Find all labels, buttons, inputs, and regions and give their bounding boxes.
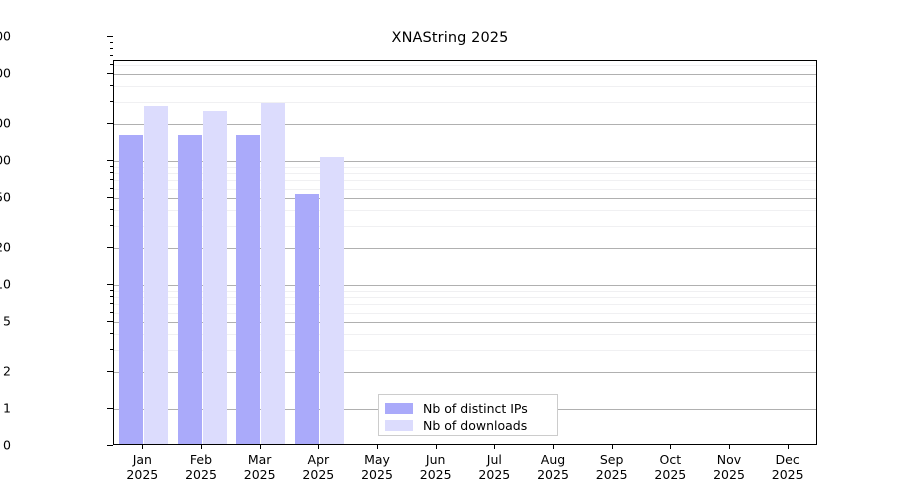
x-tick-year: 2025: [420, 467, 452, 482]
x-tick-mark: [436, 445, 437, 449]
x-tick-mark: [142, 445, 143, 449]
x-tick-year: 2025: [537, 467, 569, 482]
y-tick-label: 100: [0, 153, 11, 168]
y-tick-label: 2: [3, 363, 11, 378]
x-tick-mark: [670, 445, 671, 449]
legend-swatch-ips: [385, 403, 413, 414]
y-tick-mark-minor: [110, 55, 113, 56]
y-tick-label: 10: [0, 277, 11, 292]
bar-mar-downloads: [261, 103, 285, 444]
bar-mar-ips: [236, 135, 260, 444]
y-tick-mark-minor: [110, 166, 113, 167]
y-tick-mark: [107, 36, 113, 37]
x-tick-label-feb: Feb2025: [185, 452, 217, 482]
bar-jan-ips: [119, 135, 143, 444]
legend-label-ips: Nb of distinct IPs: [423, 401, 528, 416]
x-tick-month: Sep: [600, 452, 624, 467]
x-tick-year: 2025: [244, 467, 276, 482]
x-tick-label-jan: Jan2025: [126, 452, 158, 482]
x-tick-label-sep: Sep2025: [596, 452, 628, 482]
x-tick-mark: [494, 445, 495, 449]
gridline-minor: [114, 65, 816, 66]
y-tick-mark-minor: [110, 349, 113, 350]
y-tick-mark-minor: [110, 296, 113, 297]
x-tick-month: May: [364, 452, 390, 467]
x-tick-mark: [260, 445, 261, 449]
x-tick-mark: [788, 445, 789, 449]
x-tick-year: 2025: [185, 467, 217, 482]
x-tick-year: 2025: [478, 467, 510, 482]
legend-item-downloads: Nb of downloads: [385, 417, 551, 433]
x-tick-year: 2025: [654, 467, 686, 482]
x-tick-label-aug: Aug2025: [537, 452, 569, 482]
y-tick-mark: [107, 321, 113, 322]
y-tick-mark-minor: [110, 85, 113, 86]
plot-area: [113, 60, 817, 445]
x-tick-mark: [201, 445, 202, 449]
x-tick-month: Apr: [308, 452, 330, 467]
y-tick-mark-minor: [110, 42, 113, 43]
y-tick-mark: [107, 197, 113, 198]
y-tick-mark: [107, 445, 113, 446]
bar-feb-downloads: [203, 111, 227, 444]
bar-apr-downloads: [320, 157, 344, 444]
x-tick-month: Aug: [541, 452, 565, 467]
x-tick-label-nov: Nov2025: [713, 452, 745, 482]
y-tick-label: 1: [3, 401, 11, 416]
x-tick-mark: [553, 445, 554, 449]
x-tick-month: Nov: [717, 452, 741, 467]
y-tick-mark-minor: [110, 172, 113, 173]
y-tick-mark-minor: [110, 333, 113, 334]
y-tick-mark: [107, 160, 113, 161]
x-tick-month: Jun: [426, 452, 446, 467]
y-tick-label: 1000: [0, 29, 11, 44]
x-tick-mark: [318, 445, 319, 449]
gridline-minor: [114, 102, 816, 103]
x-tick-month: Feb: [190, 452, 212, 467]
x-tick-mark: [377, 445, 378, 449]
y-tick-mark-minor: [110, 179, 113, 180]
x-tick-month: Jan: [133, 452, 152, 467]
bar-apr-ips: [295, 194, 319, 444]
y-tick-label: 200: [0, 115, 11, 130]
x-tick-label-jul: Jul2025: [478, 452, 510, 482]
y-tick-mark-minor: [110, 64, 113, 65]
y-tick-label: 5: [3, 314, 11, 329]
y-tick-mark-minor: [110, 188, 113, 189]
y-tick-mark: [107, 123, 113, 124]
x-tick-year: 2025: [126, 467, 158, 482]
x-tick-year: 2025: [713, 467, 745, 482]
x-tick-month: Jul: [487, 452, 502, 467]
x-tick-label-may: May2025: [361, 452, 393, 482]
legend-swatch-downloads: [385, 420, 413, 431]
chart-title: XNAString 2025: [0, 30, 900, 46]
gridline-minor: [114, 86, 816, 87]
x-tick-year: 2025: [361, 467, 393, 482]
y-tick-mark-minor: [110, 225, 113, 226]
x-tick-year: 2025: [596, 467, 628, 482]
x-tick-label-mar: Mar2025: [244, 452, 276, 482]
y-tick-mark: [107, 284, 113, 285]
y-tick-mark-minor: [110, 290, 113, 291]
chart-legend: Nb of distinct IPs Nb of downloads: [378, 394, 558, 436]
y-tick-mark-minor: [110, 48, 113, 49]
x-tick-month: Mar: [248, 452, 272, 467]
y-tick-mark-minor: [110, 312, 113, 313]
bar-jan-downloads: [144, 106, 168, 444]
y-tick-mark: [107, 247, 113, 248]
x-tick-label-jun: Jun2025: [420, 452, 452, 482]
y-tick-label: 500: [0, 66, 11, 81]
y-tick-mark-minor: [110, 303, 113, 304]
x-tick-month: Oct: [660, 452, 682, 467]
x-tick-label-dec: Dec2025: [772, 452, 804, 482]
y-tick-label: 20: [0, 239, 11, 254]
x-tick-mark: [729, 445, 730, 449]
bar-feb-ips: [178, 135, 202, 444]
legend-item-ips: Nb of distinct IPs: [385, 400, 551, 416]
x-tick-label-apr: Apr2025: [302, 452, 334, 482]
y-tick-mark: [107, 73, 113, 74]
x-tick-year: 2025: [772, 467, 804, 482]
y-tick-label: 0: [3, 438, 11, 453]
y-tick-mark-minor: [110, 101, 113, 102]
chart-figure: XNAString 2025 01251020501002005001000 J…: [0, 0, 900, 500]
x-tick-label-oct: Oct2025: [654, 452, 686, 482]
gridline-major: [114, 74, 816, 75]
y-tick-label: 50: [0, 190, 11, 205]
x-tick-year: 2025: [302, 467, 334, 482]
y-tick-mark: [107, 371, 113, 372]
y-tick-mark-minor: [110, 209, 113, 210]
y-tick-mark: [107, 408, 113, 409]
x-tick-mark: [612, 445, 613, 449]
legend-label-downloads: Nb of downloads: [423, 418, 527, 433]
x-tick-month: Dec: [776, 452, 800, 467]
